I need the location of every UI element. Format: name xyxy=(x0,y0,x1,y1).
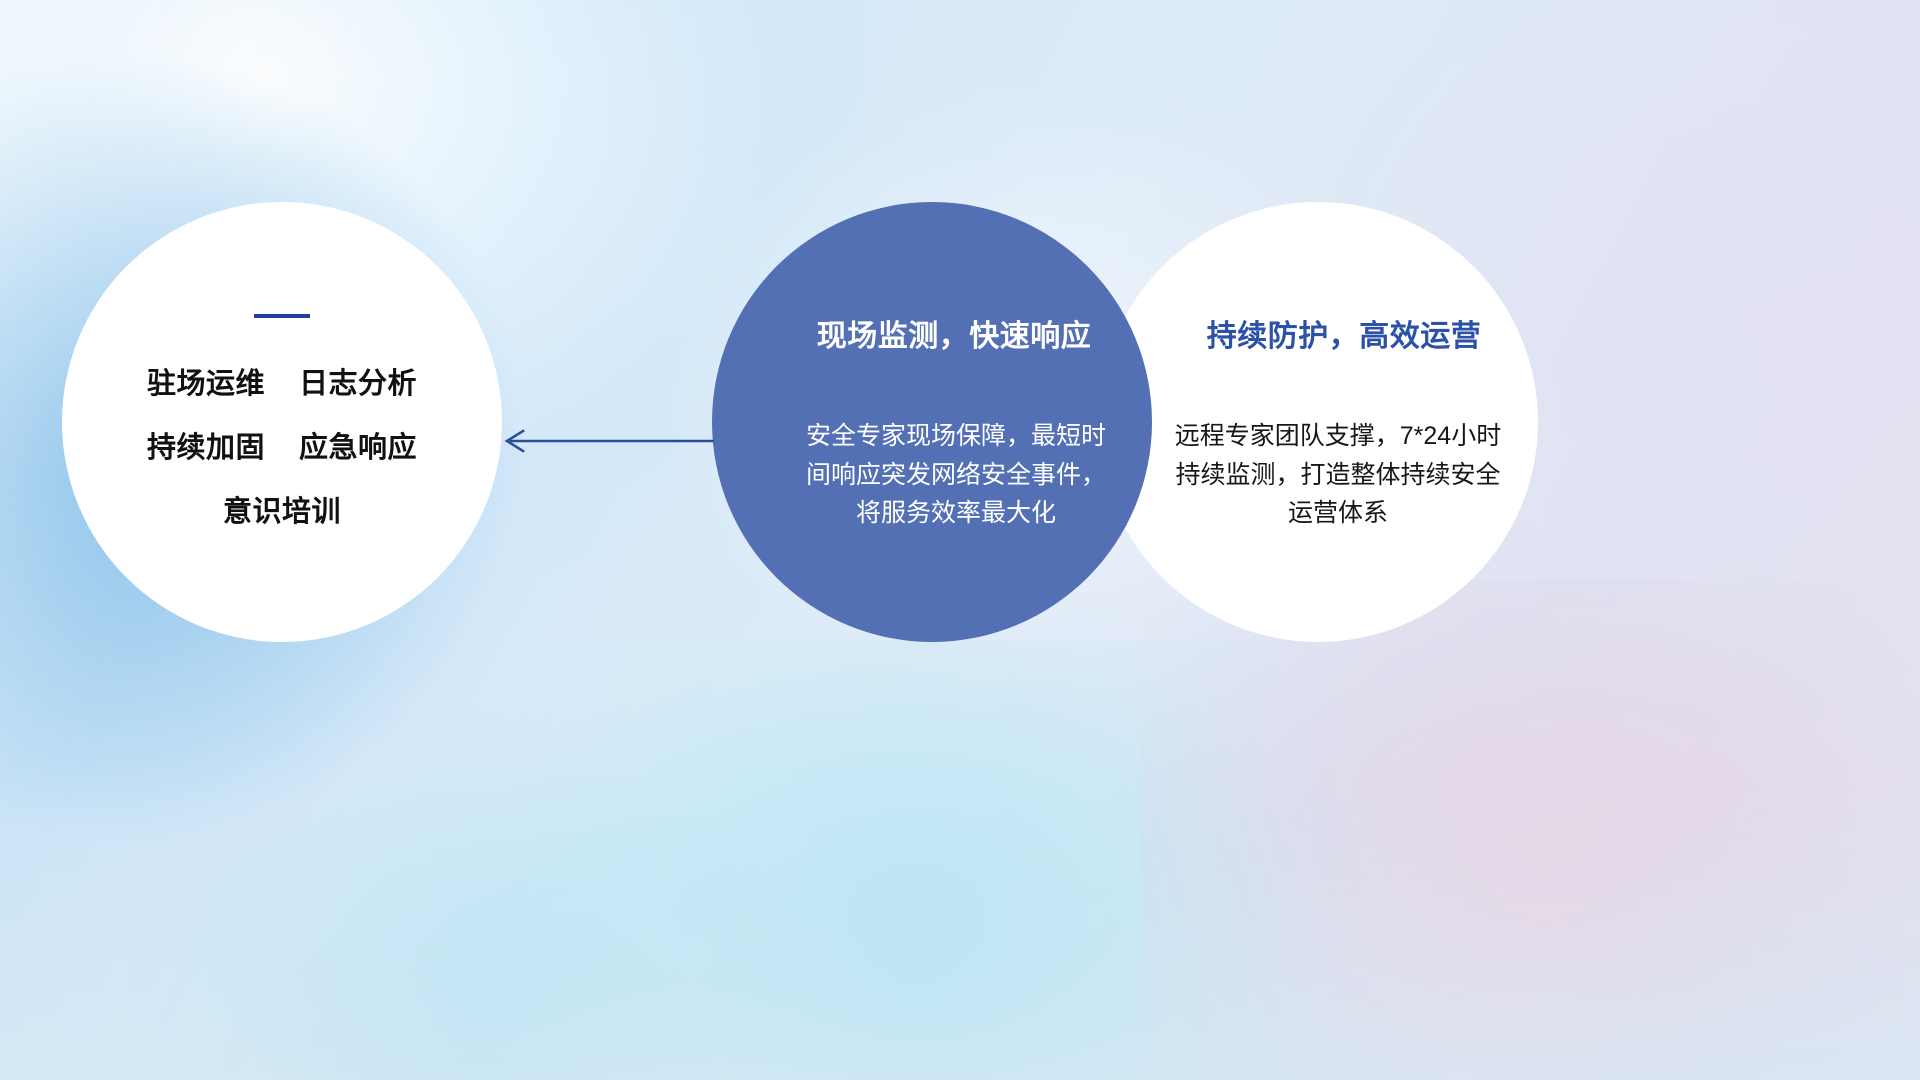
background-bottom-haze xyxy=(0,780,1920,1080)
keyword-row: 意识培训 xyxy=(223,488,341,530)
card-body: 安全专家现场保障，最短时间响应突发网络安全事件，将服务效率最大化 xyxy=(806,417,1106,533)
keywords-circle: 驻场运维 日志分析 持续加固 应急响应 意识培训 xyxy=(62,202,502,642)
keyword-row: 驻场运维 日志分析 xyxy=(147,360,417,402)
accent-divider-rule xyxy=(254,314,310,318)
card-title: 现场监测，快速响应 xyxy=(817,311,1092,355)
keyword-item: 驻场运维 xyxy=(147,360,265,402)
onsite-monitoring-circle: 现场监测，快速响应 安全专家现场保障，最短时间响应突发网络安全事件，将服务效率最… xyxy=(712,202,1152,642)
keyword-grid: 驻场运维 日志分析 持续加固 应急响应 意识培训 xyxy=(147,360,417,530)
keyword-item: 日志分析 xyxy=(299,360,417,402)
keyword-item: 持续加固 xyxy=(147,424,265,466)
continuous-protection-circle: 持续防护，高效运营 远程专家团队支撑，7*24小时持续监测，打造整体持续安全运营… xyxy=(1098,202,1538,642)
card-body: 远程专家团队支撑，7*24小时持续监测，打造整体持续安全运营体系 xyxy=(1164,417,1512,533)
keyword-row: 持续加固 应急响应 xyxy=(147,424,417,466)
card-title: 持续防护，高效运营 xyxy=(1207,311,1482,355)
keyword-item: 意识培训 xyxy=(223,488,341,530)
leftward-flow-arrow xyxy=(492,420,718,462)
keyword-item: 应急响应 xyxy=(299,424,417,466)
